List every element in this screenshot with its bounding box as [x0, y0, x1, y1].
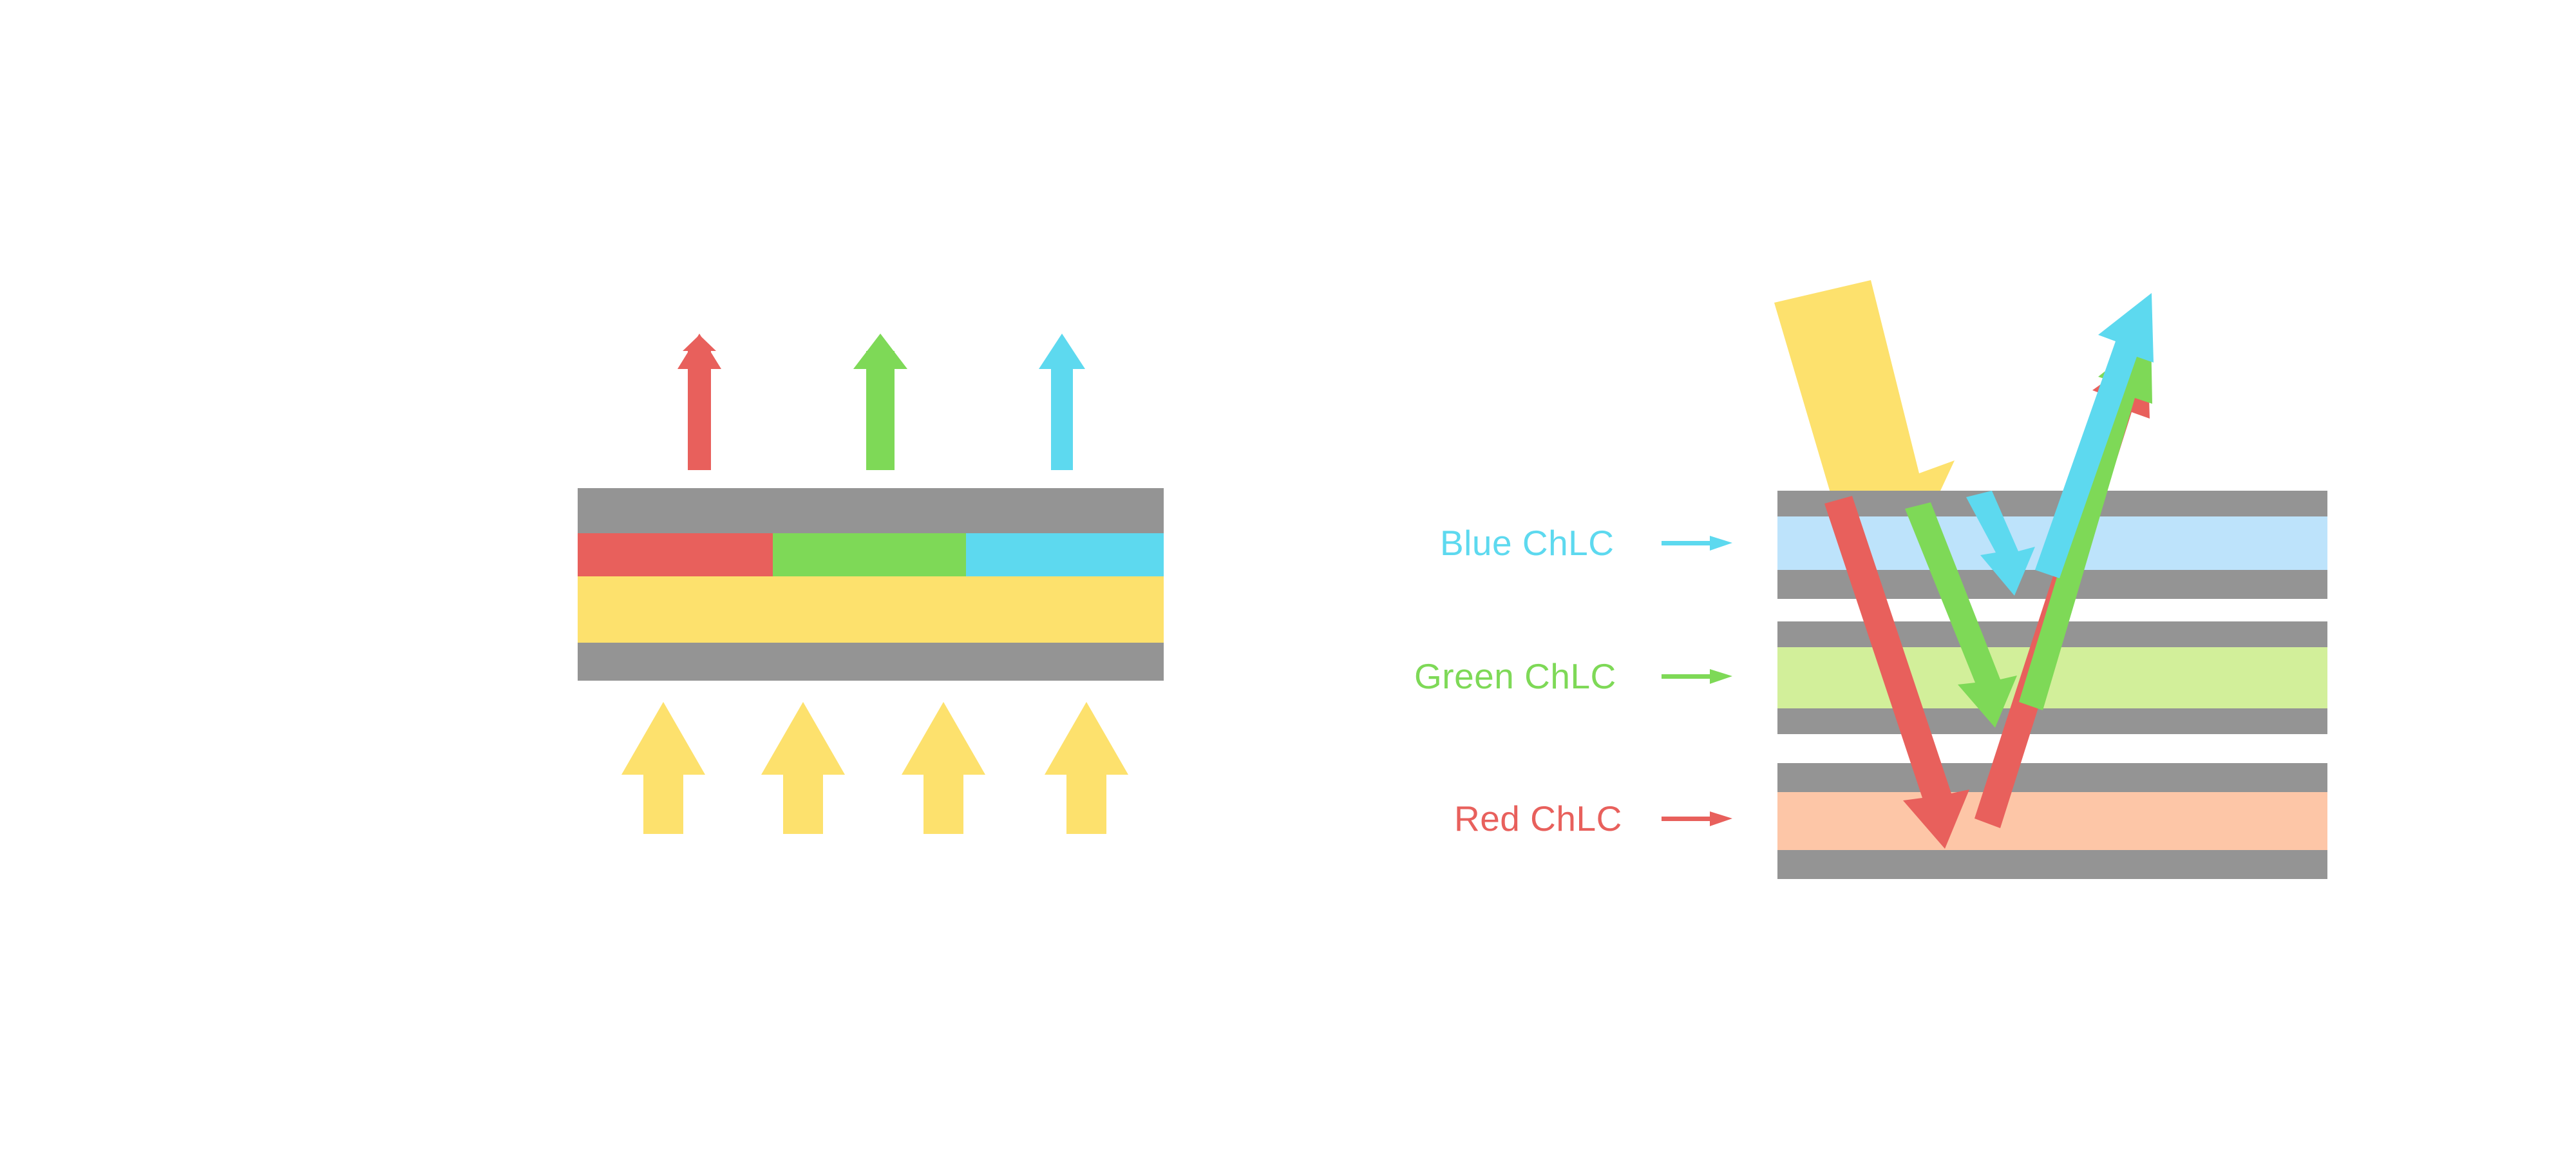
layer-green-subpixel — [773, 533, 966, 576]
layer-red-chlc — [1777, 792, 2327, 850]
emitted-blue-arrow — [1039, 334, 1085, 470]
backlight-arrow — [902, 702, 985, 834]
label-blue-chlc: Blue ChLC — [1440, 523, 1614, 563]
right-panel-svg: Blue ChLC Green ChLC Red ChLC — [1352, 0, 2447, 1154]
layer-bottom-electrode — [578, 643, 1164, 681]
layer-substrate-bottom — [1777, 850, 2327, 879]
label-blue-arrow-icon — [1662, 536, 1732, 551]
layer-substrate-green-bottom — [1777, 708, 2327, 734]
diagram-canvas: Blue ChLC Green ChLC Red ChLC — [0, 0, 2576, 1154]
backlight-arrow — [1045, 702, 1128, 834]
backlight-arrow — [621, 702, 705, 834]
emitted-red-arrow — [677, 334, 721, 470]
layer-substrate-top — [1777, 491, 2327, 516]
right-panel-chlc-stack: Blue ChLC Green ChLC Red ChLC — [1352, 0, 2447, 1154]
label-red-arrow-icon — [1662, 811, 1732, 826]
label-red-chlc: Red ChLC — [1454, 799, 1622, 838]
backlight-arrow — [761, 702, 845, 834]
left-panel-emissive-stack — [0, 0, 1288, 1154]
label-green-arrow-icon — [1662, 669, 1732, 684]
layer-air-gap-2 — [1777, 734, 2327, 763]
left-panel-svg — [0, 0, 1288, 1154]
layer-top-electrode — [578, 488, 1164, 533]
label-green-chlc: Green ChLC — [1414, 656, 1616, 696]
layer-backlight — [578, 576, 1164, 643]
layer-red-subpixel — [578, 533, 773, 576]
layer-substrate-red-top — [1777, 763, 2327, 792]
emitted-green-arrow — [853, 334, 907, 470]
layer-blue-subpixel — [966, 533, 1164, 576]
